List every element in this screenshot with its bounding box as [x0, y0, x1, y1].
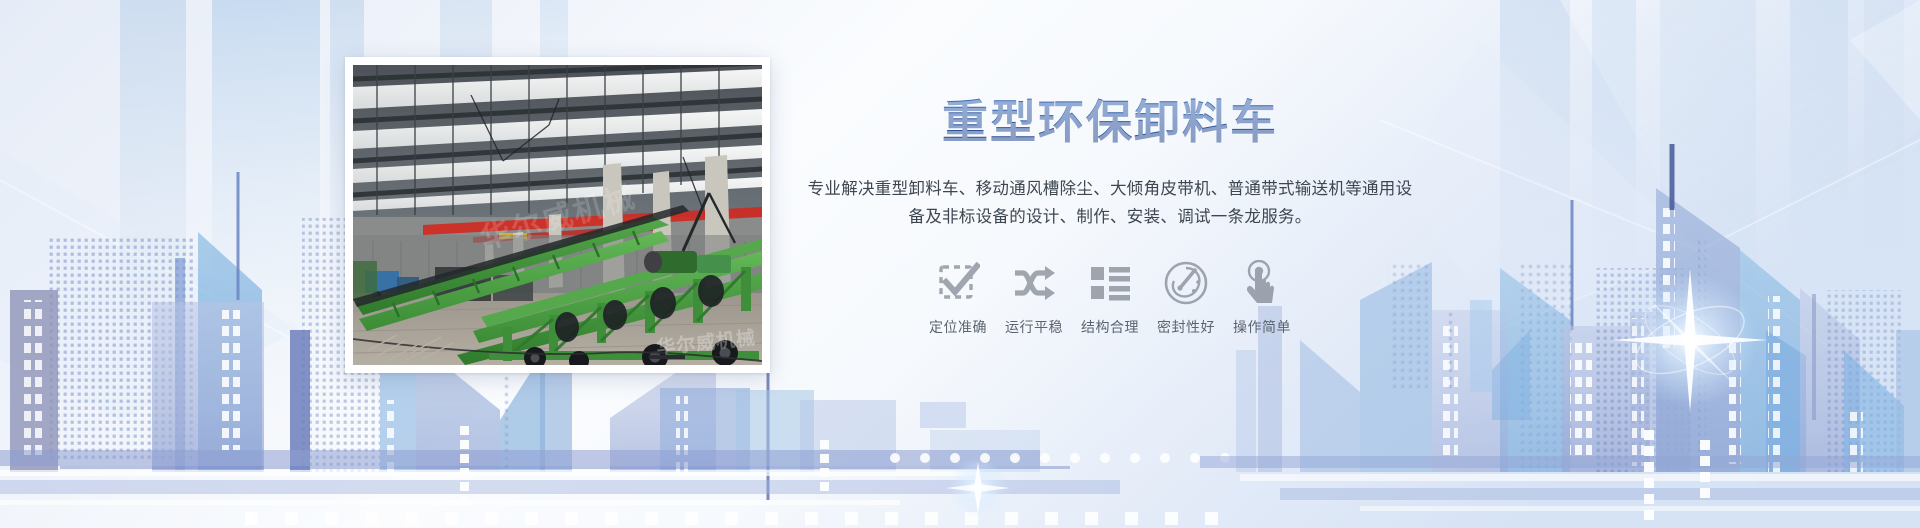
- feature-list: 定位准确 运行平稳: [790, 258, 1430, 337]
- list-blocks-icon: [1085, 258, 1135, 308]
- seal-circle-icon: [1161, 258, 1211, 308]
- product-photo-frame: 华尔威机械 华尔威机械: [345, 57, 770, 373]
- factory-workshop-illustration: [353, 65, 762, 365]
- checkbox-check-icon: [933, 258, 983, 308]
- feature-item-sealing[interactable]: 密封性好: [1148, 258, 1224, 337]
- feature-label: 操作简单: [1233, 317, 1291, 337]
- feature-label: 密封性好: [1157, 317, 1215, 337]
- page-subtitle: 专业解决重型卸料车、移动通风槽除尘、大倾角皮带机、普通带式输送机等通用设备及非标…: [790, 175, 1430, 232]
- banner-content: 重型环保卸料车 专业解决重型卸料车、移动通风槽除尘、大倾角皮带机、普通带式输送机…: [790, 96, 1430, 337]
- feature-label: 运行平稳: [1005, 317, 1063, 337]
- product-banner: 华尔威机械 华尔威机械 重型环保卸料车 专业解决重型卸料车、移动通风槽除尘、大倾…: [0, 0, 1920, 528]
- feature-item-positioning[interactable]: 定位准确: [920, 258, 996, 337]
- feature-item-stability[interactable]: 运行平稳: [996, 258, 1072, 337]
- feature-item-operation[interactable]: 操作简单: [1224, 258, 1300, 337]
- feature-item-structure[interactable]: 结构合理: [1072, 258, 1148, 337]
- feature-label: 结构合理: [1081, 317, 1139, 337]
- page-title: 重型环保卸料车: [790, 96, 1430, 149]
- feature-label: 定位准确: [929, 317, 987, 337]
- touch-hand-icon: [1237, 258, 1287, 308]
- shuffle-arrows-icon: [1009, 258, 1059, 308]
- product-photo: 华尔威机械 华尔威机械: [353, 65, 762, 365]
